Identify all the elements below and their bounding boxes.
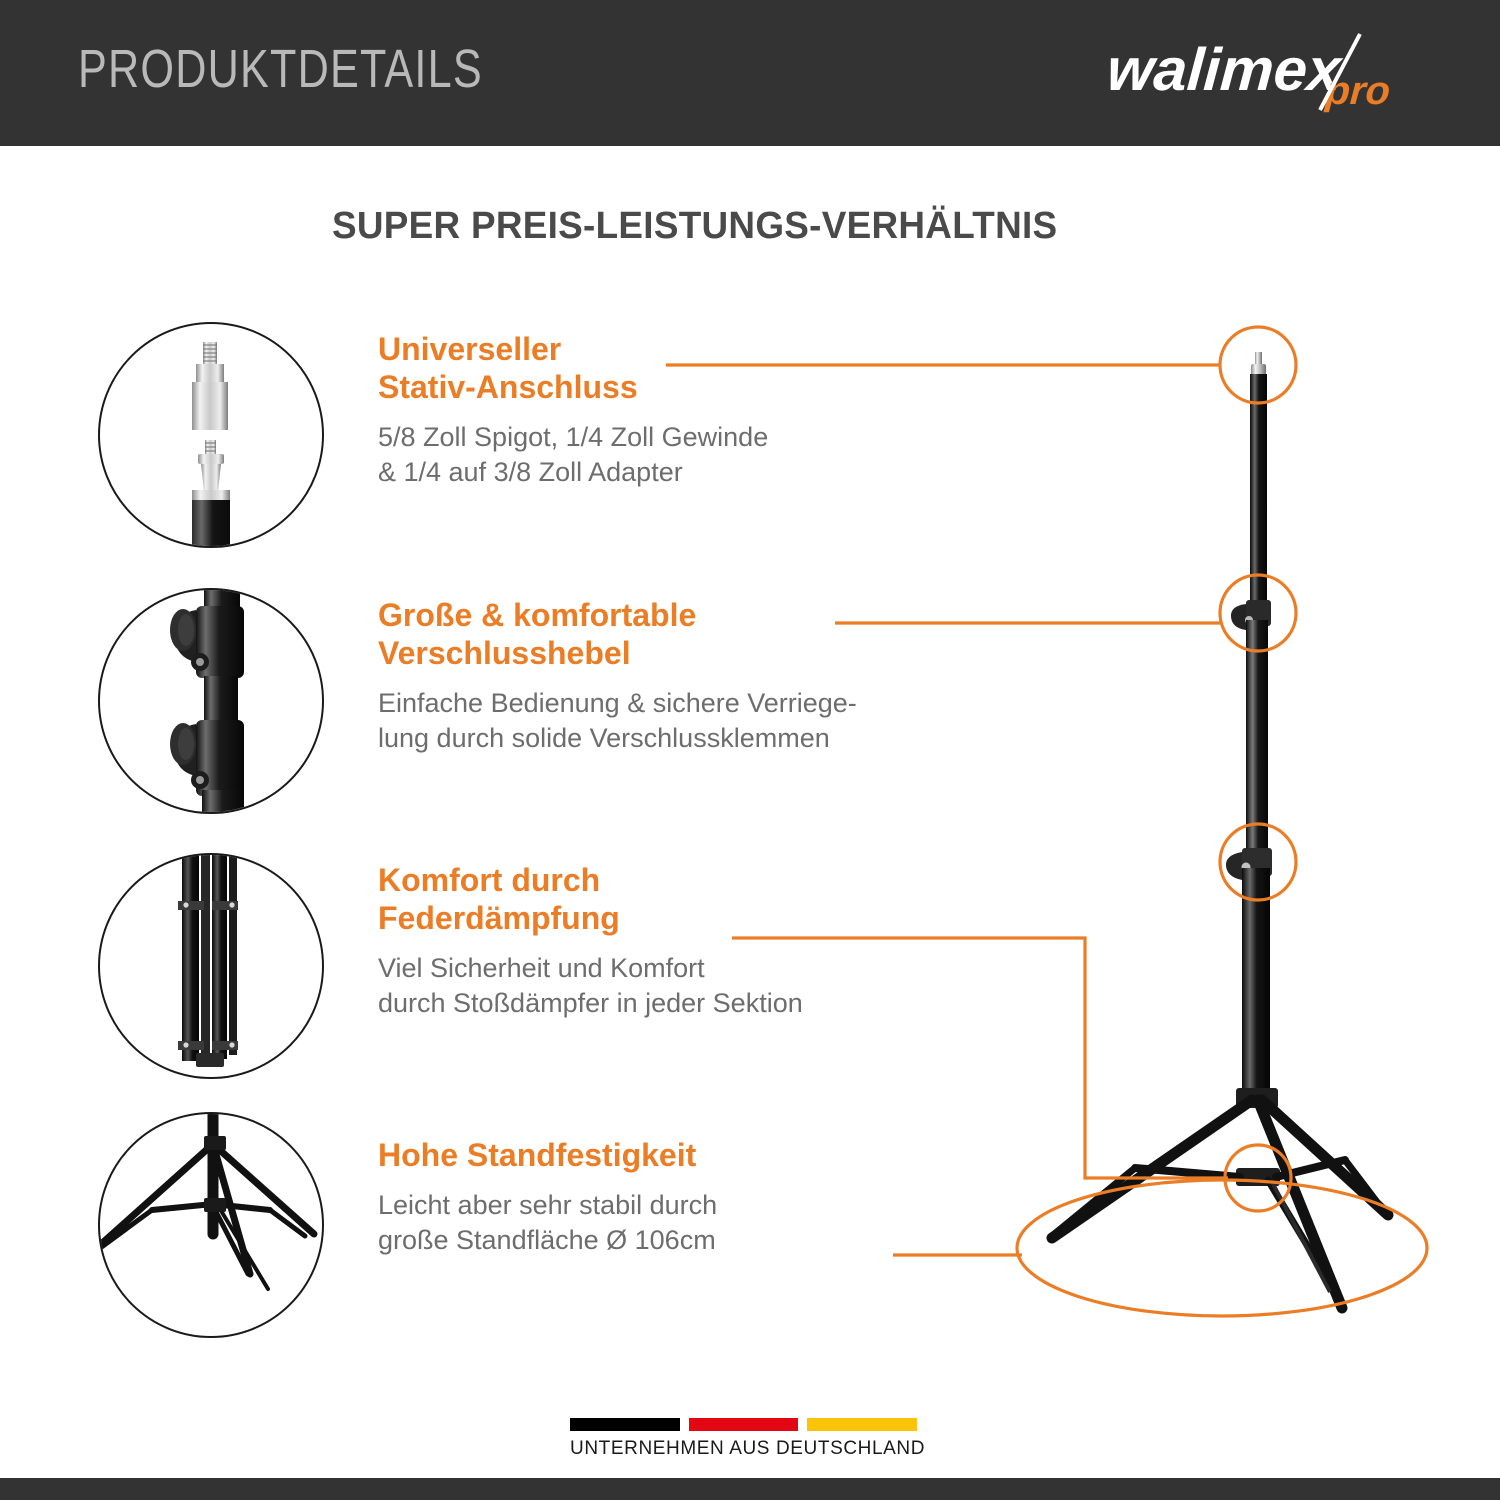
walimex-pro-logo: walimex pro	[1108, 30, 1438, 114]
callout-marker-2	[1220, 575, 1296, 651]
feature-desc-1: 5/8 Zoll Spigot, 1/4 Zoll Gewinde & 1/4 …	[378, 420, 1068, 490]
flag-stripe-gold	[807, 1418, 917, 1431]
german-flag-icon	[570, 1418, 917, 1431]
page-footer-bar	[0, 1478, 1500, 1500]
feature-detail-circle-4	[98, 1112, 324, 1338]
section-headline: SUPER PREIS-LEISTUNGS-VERHÄLTNIS	[332, 205, 1057, 248]
product-details-page: PRODUKTDETAILS walimex pro SUPER PREIS-L…	[0, 0, 1500, 1500]
feature-detail-circle-3	[98, 853, 324, 1079]
made-in-germany-badge: UNTERNEHMEN AUS DEUTSCHLAND	[570, 1418, 930, 1460]
tripod-base-icon	[100, 1114, 322, 1336]
feature-text-2: Große & komfortable Verschlusshebel Einf…	[378, 596, 1068, 756]
feature-title-3: Komfort durch Federdämpfung	[378, 861, 1068, 937]
feature-title-1: Universeller Stativ-Anschluss	[378, 330, 1068, 406]
flag-stripe-black	[570, 1418, 680, 1431]
logo-brand-text: walimex	[1108, 36, 1346, 103]
callout-marker-2b	[1220, 824, 1296, 900]
feature-desc-4: Leicht aber sehr stabil durch große Stan…	[378, 1188, 1068, 1258]
germany-label: UNTERNEHMEN AUS DEUTSCHLAND	[570, 1438, 930, 1460]
flag-stripe-red	[689, 1418, 799, 1431]
feature-desc-3: Viel Sicherheit und Komfort durch Stoßdä…	[378, 951, 1068, 1021]
feature-title-2: Große & komfortable Verschlusshebel	[378, 596, 1068, 672]
callout-marker-3	[1225, 1145, 1291, 1211]
logo-suffix-text: pro	[1323, 69, 1391, 113]
folded-legs-icon	[100, 855, 322, 1077]
feature-detail-circle-2	[98, 588, 324, 814]
footprint-ellipse	[1017, 1180, 1427, 1316]
light-stand-image	[1052, 352, 1388, 1308]
feature-text-1: Universeller Stativ-Anschluss 5/8 Zoll S…	[378, 330, 1068, 490]
spigot-adapter-icon	[100, 324, 322, 546]
callout-marker-1	[1220, 327, 1296, 403]
page-header: PRODUKTDETAILS walimex pro	[0, 0, 1500, 146]
feature-detail-circle-1	[98, 322, 324, 548]
locking-lever-icon	[100, 590, 322, 812]
feature-text-3: Komfort durch Federdämpfung Viel Sicherh…	[378, 861, 1068, 1021]
feature-title-4: Hohe Standfestigkeit	[378, 1136, 1068, 1174]
feature-desc-2: Einfache Bedienung & sichere Verriege- l…	[378, 686, 1068, 756]
feature-text-4: Hohe Standfestigkeit Leicht aber sehr st…	[378, 1136, 1068, 1258]
page-title: PRODUKTDETAILS	[78, 38, 483, 100]
